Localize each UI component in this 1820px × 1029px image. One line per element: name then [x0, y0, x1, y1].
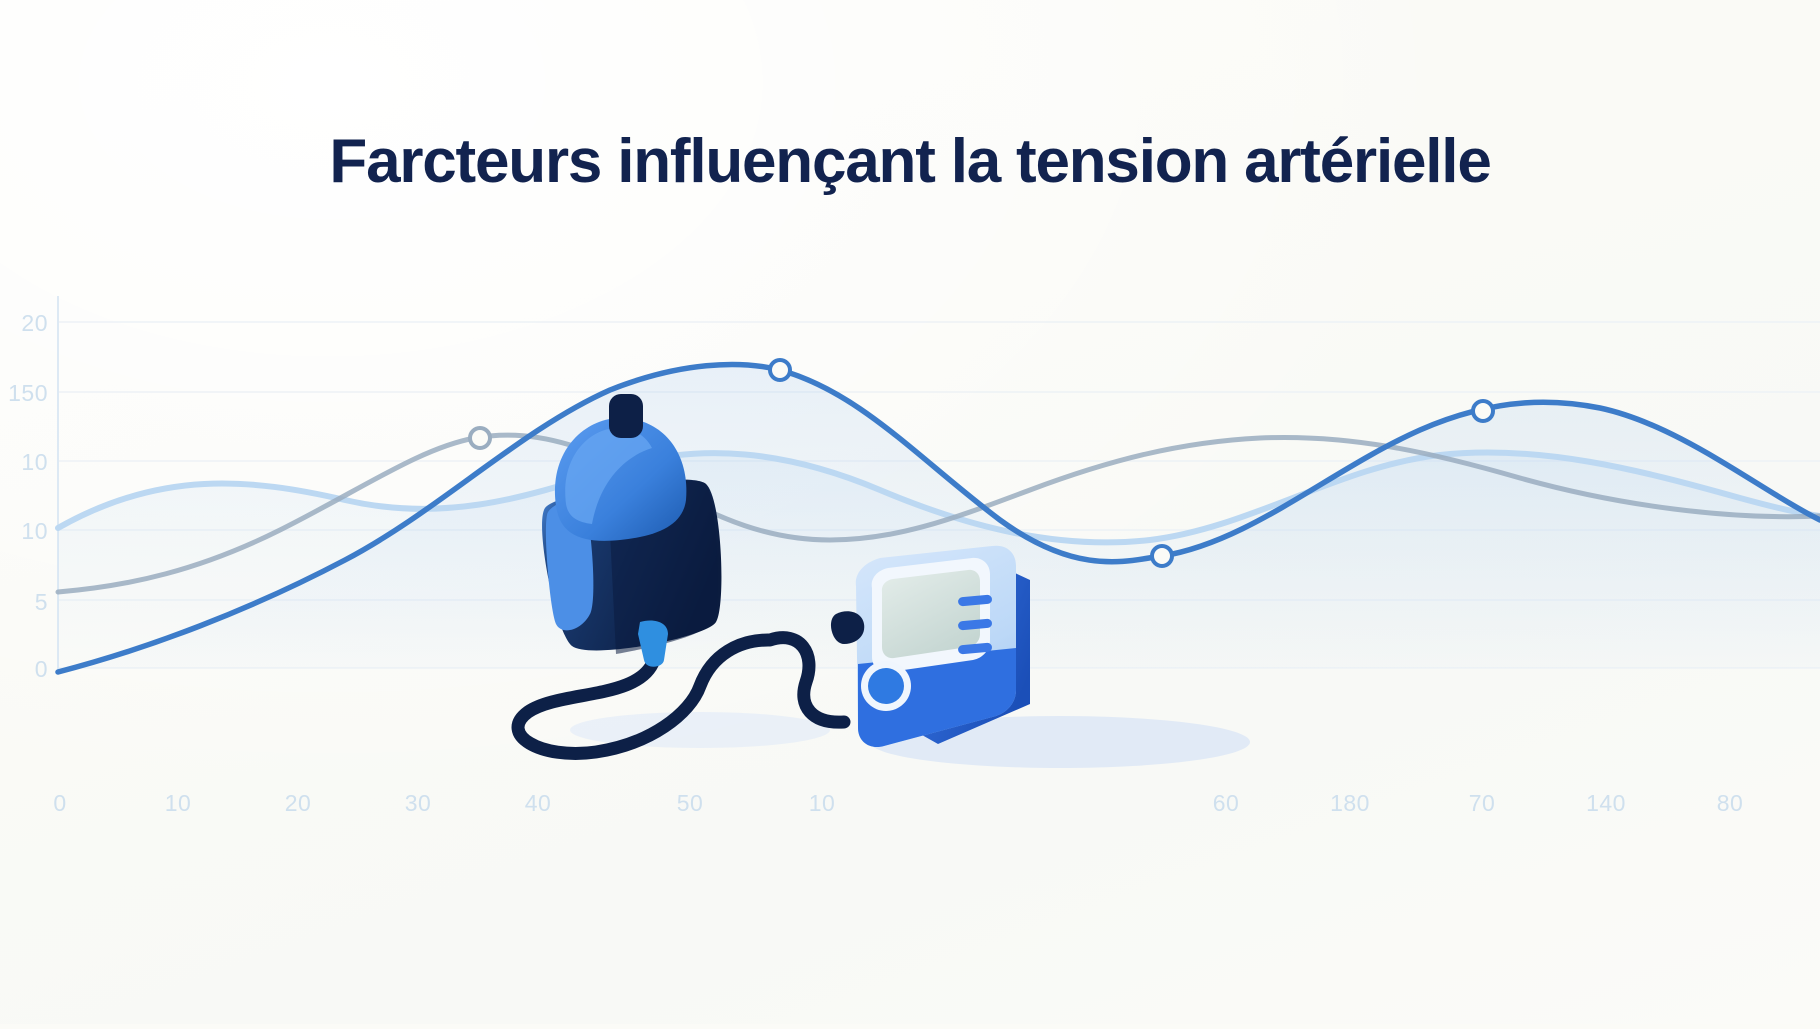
- y-tick-label-2: 10: [2, 449, 48, 476]
- illustration-banner: 20 150 10 10 5 0 0 10 20 30 40 50 10 60 …: [0, 0, 1820, 1024]
- data-point-marker: [1152, 546, 1172, 566]
- y-tick-label-1: 150: [0, 380, 48, 407]
- x-tick-label-2: 20: [268, 790, 328, 817]
- x-tick-label-5: 50: [660, 790, 720, 817]
- x-tick-label-9: 70: [1452, 790, 1512, 817]
- data-point-marker: [1473, 401, 1493, 421]
- x-tick-label-4: 40: [508, 790, 568, 817]
- y-tick-label-0: 20: [2, 310, 48, 337]
- page-title: Farcteurs influençant la tension artérie…: [0, 126, 1820, 197]
- x-tick-label-6: 10: [792, 790, 852, 817]
- y-tick-label-5: 0: [2, 656, 48, 683]
- x-tick-label-7: 60: [1196, 790, 1256, 817]
- y-tick-label-3: 10: [2, 518, 48, 545]
- x-tick-label-11: 80: [1700, 790, 1760, 817]
- x-tick-label-10: 140: [1576, 790, 1636, 817]
- x-tick-label-0: 0: [30, 790, 90, 817]
- x-tick-label-3: 30: [388, 790, 448, 817]
- data-point-marker: [770, 360, 790, 380]
- x-tick-label-1: 10: [148, 790, 208, 817]
- data-point-marker: [470, 428, 490, 448]
- x-tick-label-8: 180: [1320, 790, 1380, 817]
- y-tick-label-4: 5: [2, 589, 48, 616]
